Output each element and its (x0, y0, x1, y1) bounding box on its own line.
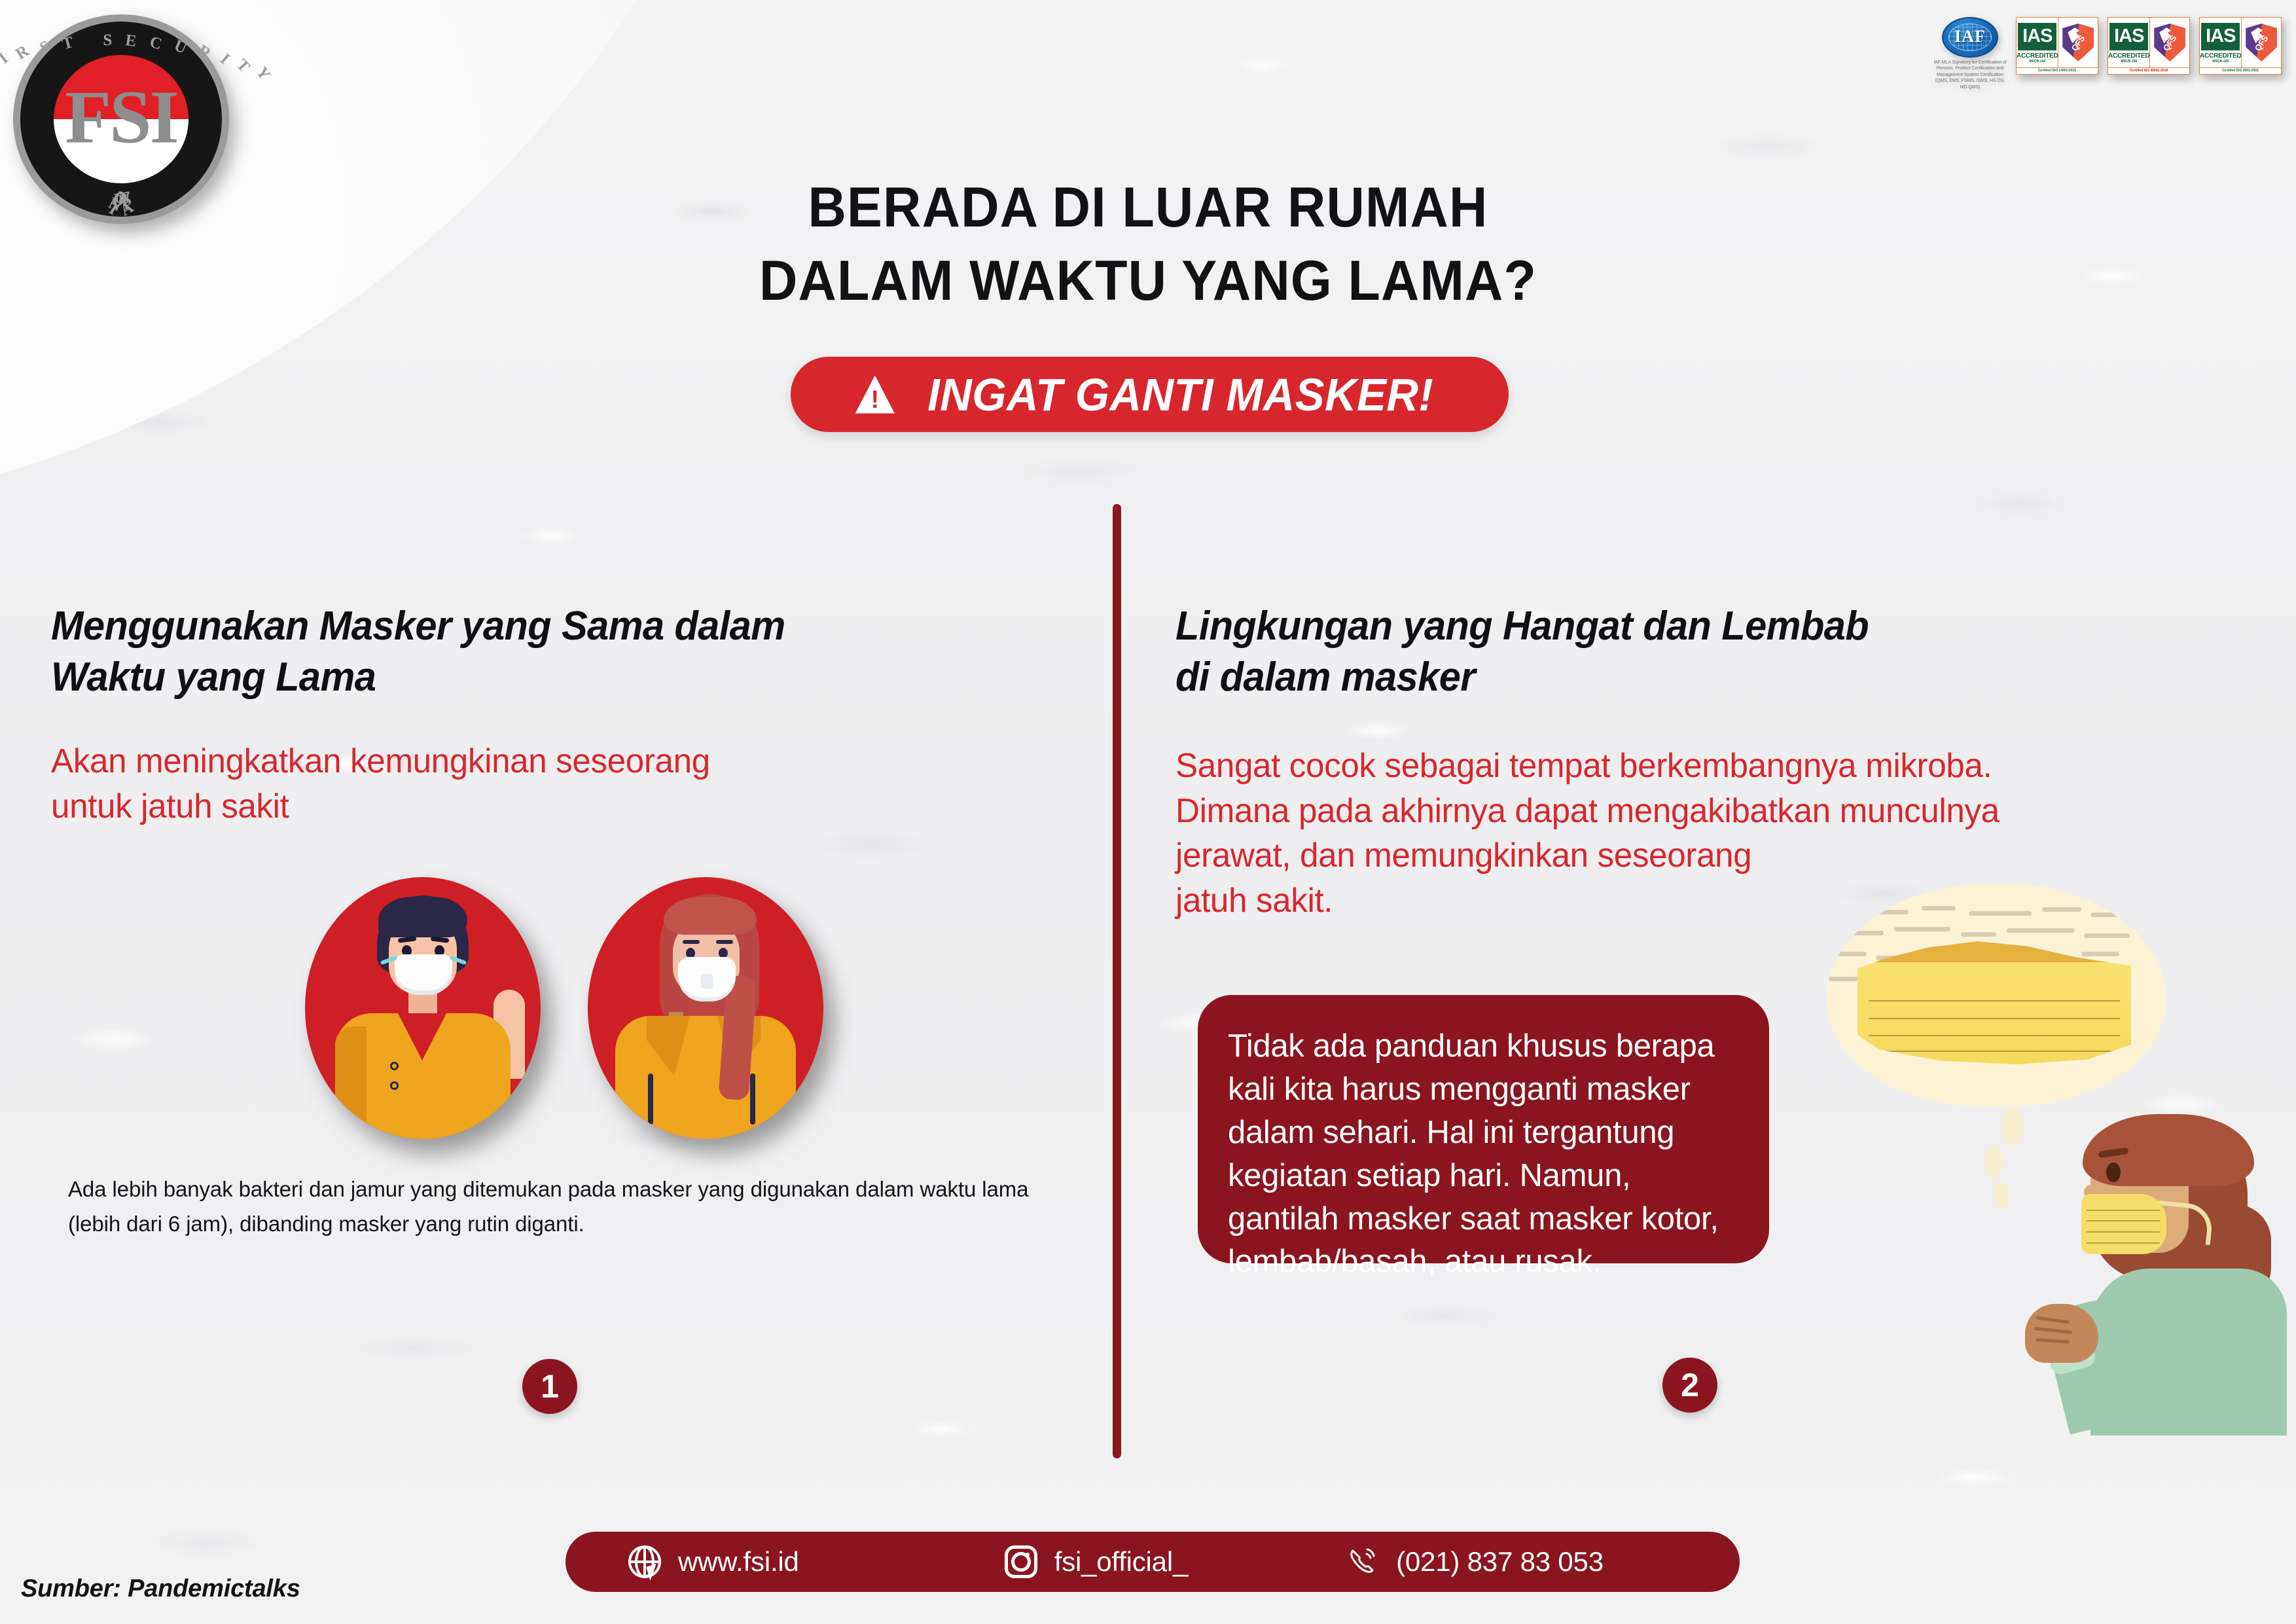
eagle-icon (2251, 27, 2263, 43)
vertical-divider (1113, 504, 1121, 1458)
ias-sub-label: MSCB-158 (2121, 60, 2137, 63)
ias-accredited-label: ACCREDITED (2108, 52, 2150, 60)
ias-accredited-label: ACCREDITED (2017, 52, 2058, 60)
woman-brow-right (716, 940, 733, 944)
ias-label: IAS (2018, 23, 2056, 50)
footer-instagram-label: fsi_official_ (1054, 1546, 1188, 1578)
thought-bubble-tail (1994, 1182, 2009, 1208)
ias-badge: IAS ACCREDITED MSCB-158 Certified ISO 45… (2108, 17, 2190, 75)
footer-phone-label: (021) 837 83 053 (1396, 1546, 1604, 1578)
yellow-mask-illustration (1857, 941, 2131, 1064)
step-number-badge-1: 1 (522, 1359, 577, 1414)
warning-triangle-icon (855, 376, 895, 414)
column-2-body-line-1: Sangat cocok sebagai tempat berkembangny… (1175, 744, 2181, 789)
column-1-title-line-1: Menggunakan Masker yang Sama dalam (51, 601, 981, 652)
iaf-caption: IAF MLA Signatory for Certification of P… (1933, 60, 2007, 90)
ias-sub-label: MSCB-158 (2029, 60, 2045, 63)
ias-accredited-label: ACCREDITED (2200, 52, 2242, 60)
ias-badge: IAS ACCREDITED MSCB-158 Certified ISO 14… (2016, 17, 2098, 75)
column-1-body-line-2: untuk jatuh sakit (51, 784, 1005, 829)
ias-sub-label: MSCB-158 (2212, 60, 2229, 63)
illustration-man-with-mask (305, 877, 541, 1139)
mask-valve (701, 974, 713, 988)
man-shirt-button (390, 1081, 399, 1090)
thinking-woman-hand (2025, 1304, 2098, 1363)
eagle-icon (2159, 27, 2171, 43)
footer-phone[interactable]: (021) 837 83 053 (1346, 1545, 1604, 1578)
man-shirt-button (390, 1062, 399, 1070)
woman-pocket-right (750, 1074, 755, 1125)
column-2-callout: Tidak ada panduan khusus berapa kali kit… (1198, 995, 1769, 1263)
globe-icon (628, 1545, 661, 1578)
ias-strip-label: Certified ISO 14001:2015 (2017, 67, 2098, 74)
logo-arc-top-text: FIRST SECURITY (13, 31, 229, 50)
qfs-shield-icon (2154, 24, 2185, 62)
instagram-icon (1005, 1545, 1037, 1578)
column-1-body-line-1: Akan meningkatkan kemungkinan seseorang (51, 739, 1005, 784)
column-2-body-line-2: Dimana pada akhirnya dapat mengakibatkan… (1175, 789, 2181, 834)
column-1-footnote: Ada lebih banyak bakteri dan jamur yang … (68, 1172, 1069, 1242)
ias-label: IAS (2109, 23, 2148, 50)
alert-banner-label: INGAT GANTI MASKER! (927, 369, 1433, 421)
logo-indonesia-flag: FSI (54, 55, 188, 183)
contact-footer-bar: www.fsi.id fsi_official_ (021) 837 83 05… (565, 1532, 1740, 1592)
iaf-globe-icon: IAF (1942, 17, 1998, 58)
alert-banner: INGAT GANTI MASKER! (791, 357, 1509, 432)
ias-label: IAS (2201, 23, 2240, 50)
column-1-title-line-2: Waktu yang Lama (51, 652, 981, 703)
iaf-badge: IAF IAF MLA Signatory for Certification … (1933, 17, 2007, 90)
eagle-icon (2068, 27, 2079, 43)
logo-monogram: FSI (54, 80, 188, 156)
illustration-woman-with-mask (588, 877, 823, 1139)
man-shirt (335, 1013, 511, 1139)
woman-fringe (664, 897, 757, 935)
step-number-badge-2: 2 (1662, 1358, 1717, 1413)
ias-strip-label: Certified ISO 9001:2015 (2200, 67, 2281, 74)
man-face-mask (395, 954, 452, 995)
footer-instagram[interactable]: fsi_official_ (1005, 1545, 1188, 1578)
column-2: Lingkungan yang Hangat dan Lembab di dal… (1175, 601, 2197, 924)
certification-badge-group: IAF IAF MLA Signatory for Certification … (1933, 17, 2282, 90)
thought-bubble-tail (1984, 1147, 2003, 1180)
source-credit: Sumber: Pandemictalks (21, 1575, 300, 1603)
column-2-title-line-1: Lingkungan yang Hangat dan Lembab (1175, 601, 2156, 652)
woman-brow-left (683, 940, 700, 944)
qfs-shield-icon (2062, 24, 2094, 62)
woman-jacket (615, 1016, 796, 1139)
page-title: BERADA DI LUAR RUMAH DALAM WAKTU YANG LA… (69, 171, 2227, 318)
woman-face-mask (678, 957, 736, 1001)
column-2-title-line-2: di dalam masker (1175, 652, 2156, 703)
ias-strip-label: Certified ISO 45001:2018 (2108, 67, 2189, 74)
thinking-woman-eye (2106, 1163, 2121, 1182)
ias-badge: IAS ACCREDITED MSCB-158 Certified ISO 90… (2199, 17, 2282, 75)
column-1: Menggunakan Masker yang Sama dalam Waktu… (51, 601, 1020, 829)
column-1-body: Akan meningkatkan kemungkinan seseorang … (51, 739, 1005, 829)
infographic-poster: FIRST SECURITY FSI INDONESIA IAF IAF MLA… (0, 0, 2296, 1624)
qfs-shield-icon (2246, 24, 2277, 62)
footer-website[interactable]: www.fsi.id (628, 1545, 799, 1578)
column-2-body-line-3: jerawat, dan memungkinkan seseorang (1175, 833, 2181, 878)
illustration-woman-thinking (2036, 1106, 2296, 1434)
footer-website-label: www.fsi.id (678, 1546, 799, 1578)
column-1-title: Menggunakan Masker yang Sama dalam Waktu… (51, 601, 981, 703)
thinking-woman-face-mask (2081, 1194, 2166, 1254)
phone-icon (1346, 1545, 1379, 1578)
column-2-title: Lingkungan yang Hangat dan Lembab di dal… (1175, 601, 2156, 703)
headline-line-2: DALAM WAKTU YANG LAMA? (69, 245, 2227, 318)
man-fringe (378, 897, 467, 937)
woman-pocket-left (648, 1074, 653, 1125)
headline-line-1: BERADA DI LUAR RUMAH (69, 171, 2227, 245)
iaf-label: IAF (1943, 27, 1997, 46)
thought-bubble-tail (2001, 1106, 2024, 1146)
